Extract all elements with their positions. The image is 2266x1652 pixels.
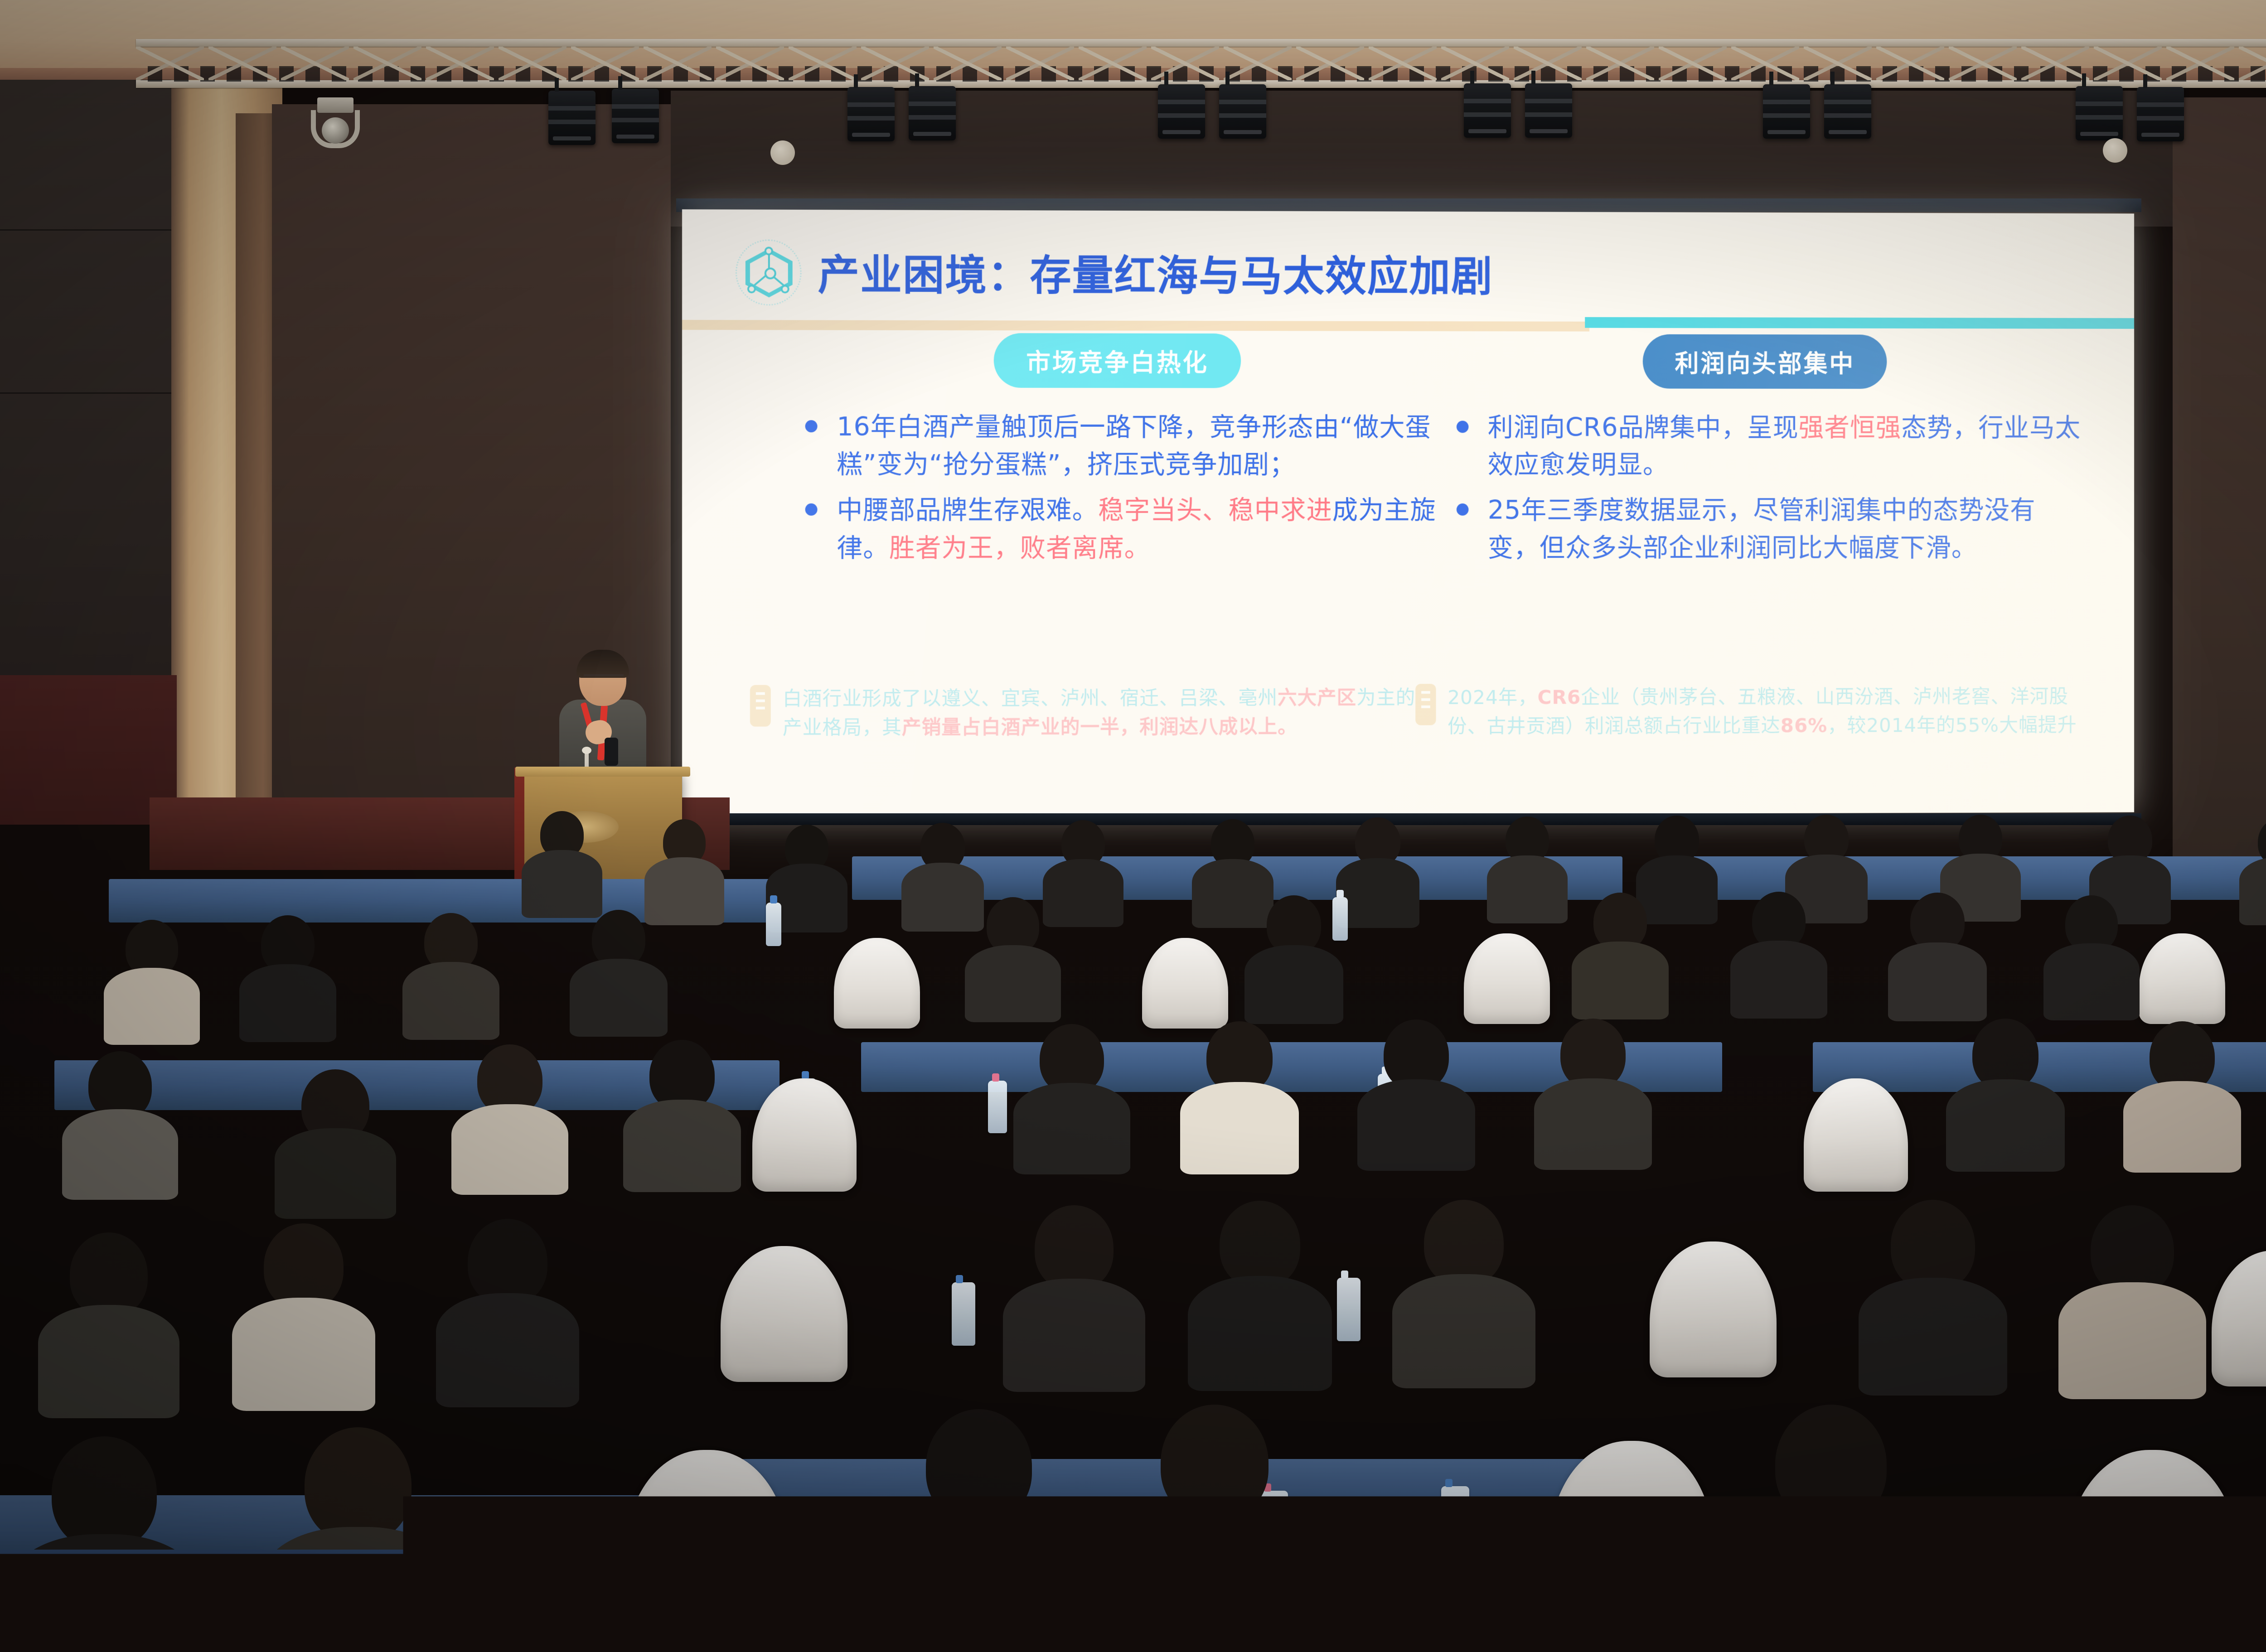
audience-member (109, 920, 195, 1033)
audience-member (1364, 1019, 1468, 1155)
bullet-list-left: 16年白酒产量触顶后一路下降，竞争形态由“做大蛋糕”变为“抢分蛋糕”，挤压式竞争… (795, 408, 1438, 567)
audience-member (1577, 893, 1663, 1006)
chair (2139, 933, 2225, 1024)
audience-member (1187, 1021, 1292, 1157)
slide-header: 产业困境：存量红海与马太效应加剧 (682, 209, 2134, 330)
audience-member (1867, 1200, 1999, 1372)
bullet-item: 16年白酒产量触顶后一路下降，竞争形态由“做大蛋糕”变为“抢分蛋糕”，挤压式竞争… (795, 408, 1438, 484)
audience-member (1020, 1024, 1124, 1160)
chair (1142, 938, 1228, 1029)
bullet-text: 25年三季度数据显示，尽管利润集中的态势没有变，但众多头部企业利润同比大幅度下滑… (1488, 496, 2036, 563)
stage-par-light (1763, 84, 1810, 139)
bullet-text-highlight: 强者恒强 (1798, 413, 1901, 442)
audience-member (1196, 1201, 1323, 1368)
audience-member (2130, 1021, 2234, 1157)
audience-member (1736, 892, 1822, 1005)
water-bottle (766, 903, 781, 946)
column-pill-right: 利润向头部集中 (1643, 334, 1887, 389)
stage-par-light (1525, 83, 1572, 138)
bullet-text: 利润向CR6品牌集中，呈现 (1488, 413, 1799, 443)
column-pill-left: 市场竞争白热化 (994, 333, 1241, 388)
audience-member (240, 1223, 367, 1391)
audience-member (2048, 895, 2135, 1009)
slide-column-left: 市场竞争白热化 16年白酒产量触顶后一路下降，竞争形态由“做大蛋糕”变为“抢分蛋… (795, 333, 1438, 575)
audience-member (68, 1051, 172, 1187)
note-text-right: 2024年，CR6企业（贵州茅台、五粮液、山西汾酒、泸州老窖、洋河股份、古井贡酒… (1448, 683, 2090, 741)
stage-par-light (1219, 84, 1266, 139)
audience-member (245, 915, 331, 1029)
audience-member (2067, 1205, 2198, 1377)
bullet-text-highlight: 胜者为王，败者离席。 (889, 533, 1150, 563)
chair (1464, 933, 1550, 1024)
audience-member (1894, 893, 1980, 1006)
audience-member (1011, 1205, 1138, 1373)
bullet-item: 利润向CR6品牌集中，呈现强者恒强态势，行业马太效应愈发明显。 (1447, 409, 2081, 484)
bullet-list-right: 利润向CR6品牌集中，呈现强者恒强态势，行业马太效应愈发明显。 25年三季度数据… (1447, 409, 2081, 567)
stage-par-light (1464, 83, 1511, 138)
audience-member (1491, 816, 1564, 914)
bullet-dot-icon (805, 503, 818, 516)
stage-par-light (2076, 86, 2123, 140)
projection-screen[interactable]: 产业困境：存量红海与马太效应加剧 市场竞争白热化 16年白酒产量触顶后一路下降，… (682, 209, 2134, 816)
slide-column-right: 利润向头部集中 利润向CR6品牌集中，呈现强者恒强态势，行业马太效应愈发明显。 … (1447, 334, 2081, 575)
water-bottle (988, 1081, 1007, 1133)
bullet-text: 中腰部品牌生存艰难。 (837, 495, 1098, 525)
moving-head-light (308, 97, 363, 155)
audience-member (648, 819, 721, 917)
chair (1650, 1241, 1777, 1377)
audience-member (1047, 820, 1119, 918)
audience-member-recording (281, 1038, 390, 1183)
audience-member (1953, 1019, 2058, 1154)
stage-par-light (548, 91, 596, 145)
audience-area: 刘功 周 (0, 743, 2266, 1652)
audience-member (630, 1040, 734, 1176)
chair (2212, 1251, 2266, 1386)
slide-note-right: 2024年，CR6企业（贵州茅台、五粮液、山西汾酒、泸州老窖、洋河股份、古井贡酒… (1415, 683, 2090, 741)
slide-note-left: 白酒行业形成了以遵义、宜宾、泸州、宿迁、吕梁、亳州六大产区为主的产业格局，其产销… (750, 684, 1433, 743)
info-badge-icon (1415, 684, 1436, 725)
ceiling-speaker (2103, 138, 2127, 163)
audience-member (576, 910, 662, 1023)
bullet-item: 25年三季度数据显示，尽管利润集中的态势没有变，但众多头部企业利润同比大幅度下滑… (1447, 492, 2081, 567)
bullet-text-highlight: 稳字当头、稳中求进 (1098, 496, 1332, 526)
stage-par-light (909, 86, 956, 140)
chair (1804, 1078, 1908, 1192)
bullet-dot-icon (1457, 504, 1469, 516)
water-bottle (1337, 1278, 1361, 1341)
bullet-dot-icon (805, 420, 818, 432)
audience-member (45, 1232, 172, 1400)
stage-par-light (1158, 84, 1205, 139)
note-text-left: 白酒行业形成了以遵义、宜宾、泸州、宿迁、吕梁、亳州六大产区为主的产业格局，其产销… (783, 684, 1433, 743)
water-bottle (952, 1282, 975, 1346)
truss-top-chord (136, 39, 2266, 47)
stage-par-light (2137, 87, 2184, 141)
hexagon-network-logo-icon (736, 239, 802, 305)
carpet (0, 1550, 2266, 1652)
conference-room-scene: 产业困境：存量红海与马太效应加剧 市场竞争白热化 16年白酒产量触顶后一路下降，… (0, 0, 2266, 1652)
header-rule-cream (682, 320, 1589, 332)
chair (721, 1246, 847, 1382)
stage-par-light (847, 87, 895, 141)
audience-member (444, 1219, 571, 1386)
bullet-text: 16年白酒产量触顶后一路下降，竞争形态由“做大蛋糕”变为“抢分蛋糕”，挤压式竞争… (837, 412, 1431, 479)
header-rule-cyan (1585, 317, 2134, 329)
stage-par-light (1824, 84, 1871, 139)
audience-member (408, 913, 494, 1026)
ceiling-speaker (770, 140, 795, 165)
bullet-dot-icon (1457, 421, 1469, 433)
slide-title: 产业困境：存量红海与马太效应加剧 (818, 242, 1493, 303)
audience-member (1341, 817, 1414, 915)
audience-member (1251, 895, 1337, 1009)
lighting-truss (136, 39, 2266, 88)
audience-member (526, 811, 598, 908)
audience-member (906, 823, 979, 920)
audience-member (458, 1044, 562, 1180)
chair (834, 938, 920, 1029)
bullet-item: 中腰部品牌生存艰难。稳字当头、稳中求进成为主旋律。胜者为王，败者离席。 (795, 492, 1438, 567)
stage-par-light (612, 89, 659, 143)
info-badge-icon (750, 685, 771, 727)
audience-member (1400, 1200, 1527, 1367)
audience-member (2243, 818, 2266, 916)
audience-member (770, 825, 843, 922)
audience-member (1541, 1019, 1645, 1154)
audience-member (970, 897, 1056, 1010)
